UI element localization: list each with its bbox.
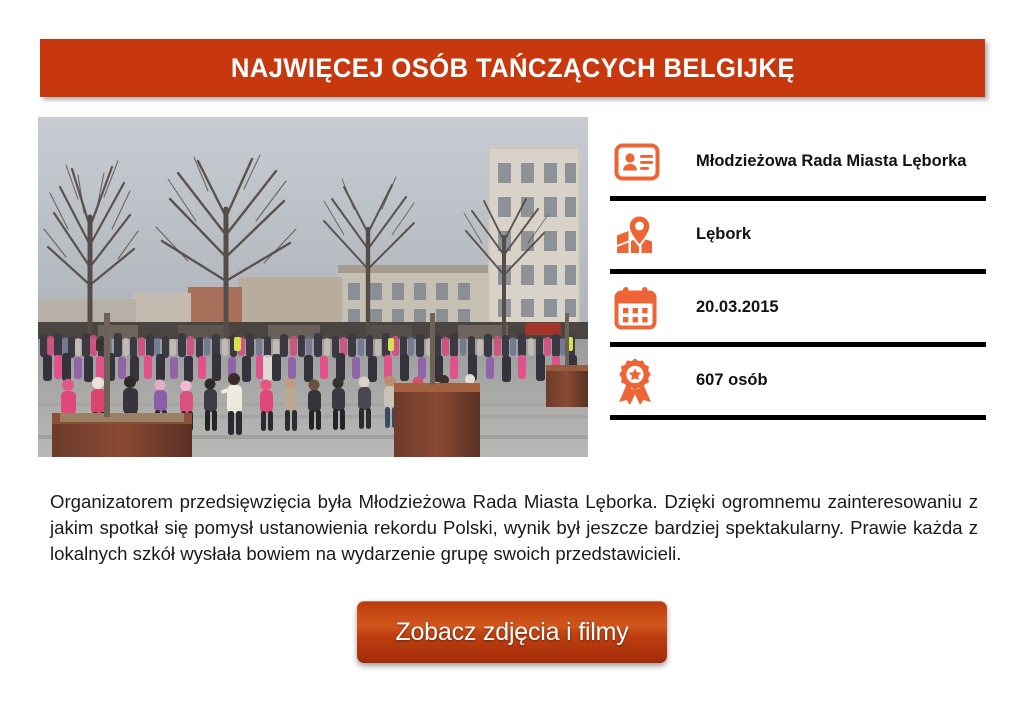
award-ribbon-icon bbox=[614, 355, 670, 407]
info-value-date: 20.03.2015 bbox=[696, 297, 779, 318]
info-row-organizer: Młodzieżowa Rada Miasta Lęborka bbox=[610, 128, 986, 196]
id-card-icon bbox=[614, 136, 670, 188]
see-photos-and-videos-button[interactable]: Zobacz zdjęcia i filmy bbox=[357, 601, 667, 663]
info-row-participants: 607 osób bbox=[610, 347, 986, 415]
info-value-participants: 607 osób bbox=[696, 370, 768, 391]
info-value-organizer: Młodzieżowa Rada Miasta Lęborka bbox=[696, 151, 966, 172]
record-title-banner: NAJWIĘCEJ OSÓB TAŃCZĄCYCH BELGIJKĘ bbox=[40, 39, 985, 97]
calendar-icon bbox=[614, 282, 670, 334]
map-pin-icon bbox=[614, 209, 670, 261]
info-value-location: Lębork bbox=[696, 224, 751, 245]
record-info-panel: Młodzieżowa Rada Miasta Lęborka Lębork bbox=[610, 128, 986, 420]
event-photo-illustration bbox=[38, 117, 588, 457]
info-divider-4 bbox=[610, 415, 986, 420]
page-title: NAJWIĘCEJ OSÓB TAŃCZĄCYCH BELGIJKĘ bbox=[231, 53, 795, 84]
event-photo bbox=[38, 117, 588, 457]
record-description: Organizatorem przedsięwzięcia była Młodz… bbox=[50, 489, 978, 567]
info-row-date: 20.03.2015 bbox=[610, 274, 986, 342]
info-row-location: Lębork bbox=[610, 201, 986, 269]
cta-button-container: Zobacz zdjęcia i filmy bbox=[0, 601, 1024, 663]
